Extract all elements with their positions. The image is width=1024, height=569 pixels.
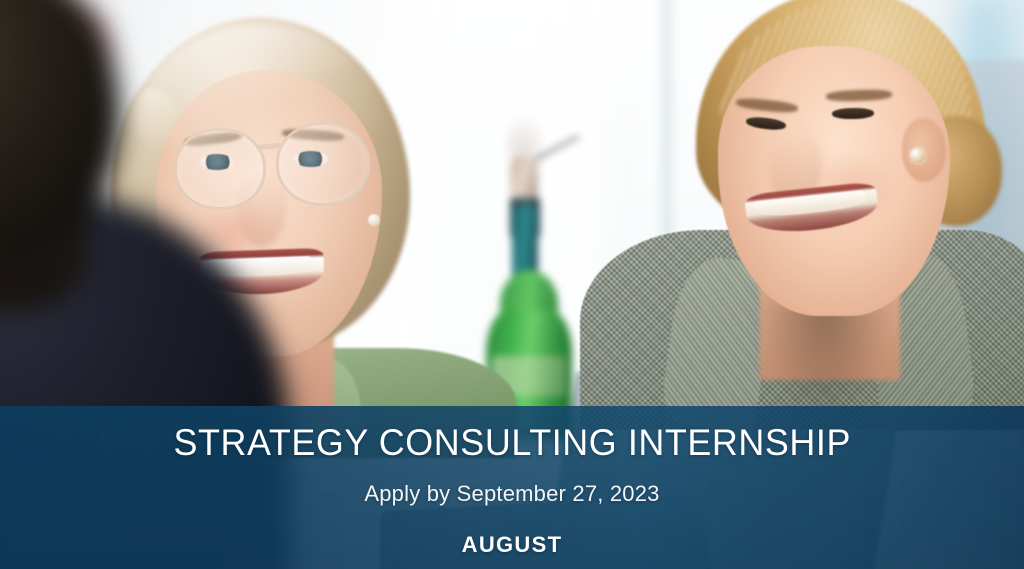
woman-right	[610, 0, 1024, 420]
caption-block: STRATEGY CONSULTING INTERNSHIP Apply by …	[0, 406, 1024, 569]
woman-left-earring	[368, 214, 380, 226]
month-label: AUGUST	[462, 532, 563, 557]
internship-promo-banner: STRATEGY CONSULTING INTERNSHIP Apply by …	[0, 0, 1024, 569]
woman-right-ear	[902, 118, 946, 182]
application-deadline: Apply by September 27, 2023	[364, 481, 659, 506]
woman-right-earring	[910, 148, 925, 163]
banner-title: STRATEGY CONSULTING INTERNSHIP	[173, 423, 851, 463]
bottle-cork	[510, 156, 538, 204]
